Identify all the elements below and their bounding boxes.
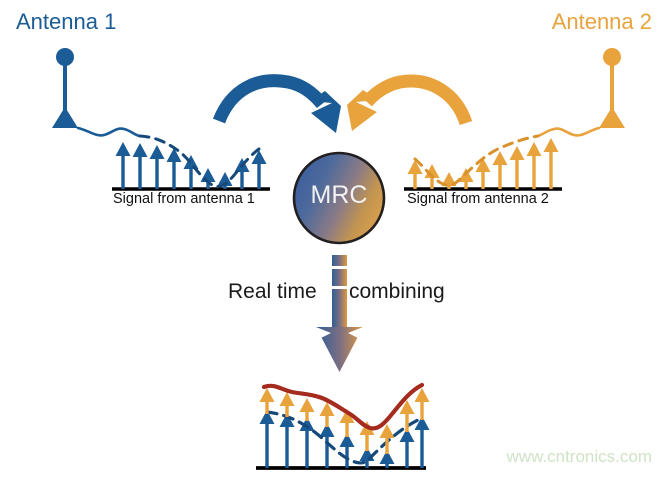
combining-label: combining xyxy=(349,281,445,302)
antenna-tower-icon-2 xyxy=(599,48,625,128)
signal2-arrows xyxy=(408,138,559,189)
diagram-vector-layer xyxy=(0,0,668,479)
antenna2-feed-line xyxy=(538,128,599,136)
antenna1-feed-line xyxy=(78,128,140,136)
real-time-label: Real time xyxy=(228,281,317,302)
antenna2-to-mrc-arrow xyxy=(347,81,466,131)
watermark-text: www.cntronics.com xyxy=(507,448,652,465)
signal2-group xyxy=(404,136,562,189)
signal1-caption: Signal from antenna 1 xyxy=(113,192,255,207)
diagram-canvas: Antenna 1 Antenna 2 Signal from antenna … xyxy=(0,0,668,479)
combined-signal-group xyxy=(256,385,430,468)
signal2-caption: Signal from antenna 2 xyxy=(407,192,549,207)
antenna1-to-mrc-arrow xyxy=(219,81,341,133)
antenna1-label: Antenna 1 xyxy=(16,11,116,33)
mrc-label: MRC xyxy=(293,183,385,208)
signal1-group xyxy=(112,136,270,189)
antenna-tower-icon-1 xyxy=(52,48,78,128)
antenna2-label: Antenna 2 xyxy=(552,11,652,33)
real-time-combining-arrow xyxy=(316,255,363,372)
